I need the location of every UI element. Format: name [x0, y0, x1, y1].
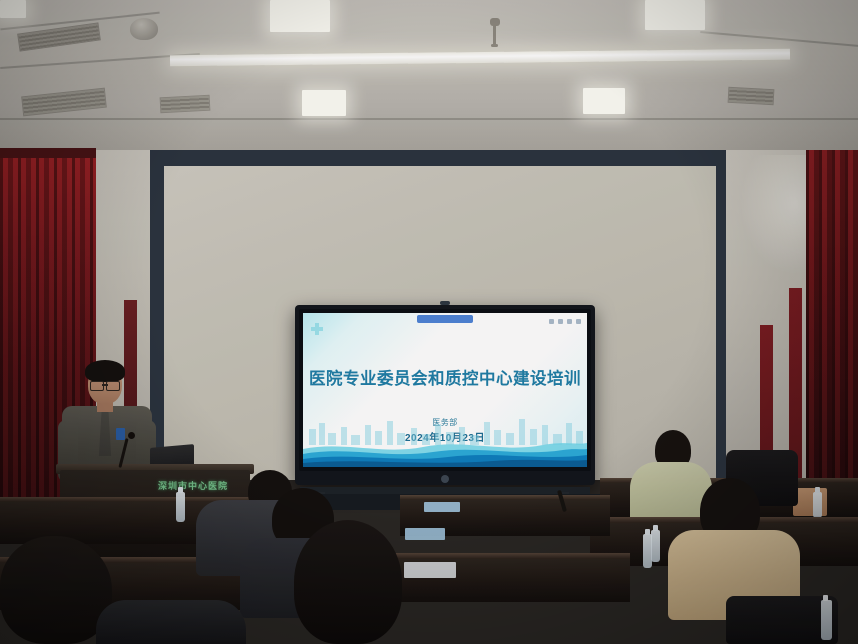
- pen-icon[interactable]: [549, 319, 554, 324]
- podium-nameplate: 深圳市中心医院: [140, 477, 246, 493]
- display-stand-bar: [300, 487, 590, 494]
- water-bottle: [176, 492, 185, 522]
- ceiling: [0, 0, 858, 152]
- curtain-rail: [0, 148, 96, 158]
- display-brand-logo: [441, 475, 449, 483]
- attendee-head: [294, 520, 402, 644]
- ceiling-speaker: [130, 18, 158, 40]
- glasses-icon: [90, 381, 120, 389]
- plus-icon: [311, 323, 323, 335]
- slide-title: 医院专业委员会和质控中心建设培训: [303, 365, 587, 389]
- slide-toolbar[interactable]: [549, 319, 581, 324]
- desk-edge: [380, 553, 630, 559]
- presentation-slide: 医院专业委员会和质控中心建设培训 医务部 2024年10月23日: [303, 313, 587, 467]
- linear-ceiling-light: [170, 49, 790, 66]
- wave-graphic: [303, 433, 587, 467]
- ceiling-vent: [21, 88, 107, 117]
- shape-icon[interactable]: [567, 319, 572, 324]
- speaker-hair: [85, 360, 125, 382]
- wall-display[interactable]: 医院专业委员会和质控中心建设培训 医务部 2024年10月23日: [295, 305, 595, 485]
- water-bottle: [813, 492, 822, 518]
- panel-light: [583, 88, 625, 114]
- ceiling-vent: [728, 87, 775, 105]
- desk-edge: [400, 495, 610, 500]
- display-camera-icon: [440, 301, 450, 305]
- paper-document: [404, 562, 456, 578]
- paper-document: [424, 502, 460, 512]
- conference-room-photo: 医院专业委员会和质控中心建设培训 医务部 2024年10月23日: [0, 0, 858, 644]
- paper-document: [405, 528, 445, 540]
- panel-light: [270, 0, 330, 32]
- eraser-icon[interactable]: [558, 319, 563, 324]
- slide-toolbar-tab[interactable]: [417, 315, 473, 323]
- water-bottle: [643, 534, 652, 568]
- panel-light: [302, 90, 346, 116]
- attendee-shoulder: [96, 600, 246, 644]
- microphone-icon: [128, 432, 135, 439]
- panel-light: [0, 0, 26, 18]
- water-bottle: [651, 530, 660, 562]
- speaker-name-badge: [116, 428, 125, 440]
- ceiling-vent: [160, 95, 211, 114]
- wall-trim-top: [150, 150, 730, 166]
- panel-light: [645, 0, 705, 30]
- water-bottle: [821, 600, 832, 640]
- more-icon[interactable]: [576, 319, 581, 324]
- sprinkler-head: [488, 18, 502, 50]
- stage-curtain-right: [806, 150, 858, 480]
